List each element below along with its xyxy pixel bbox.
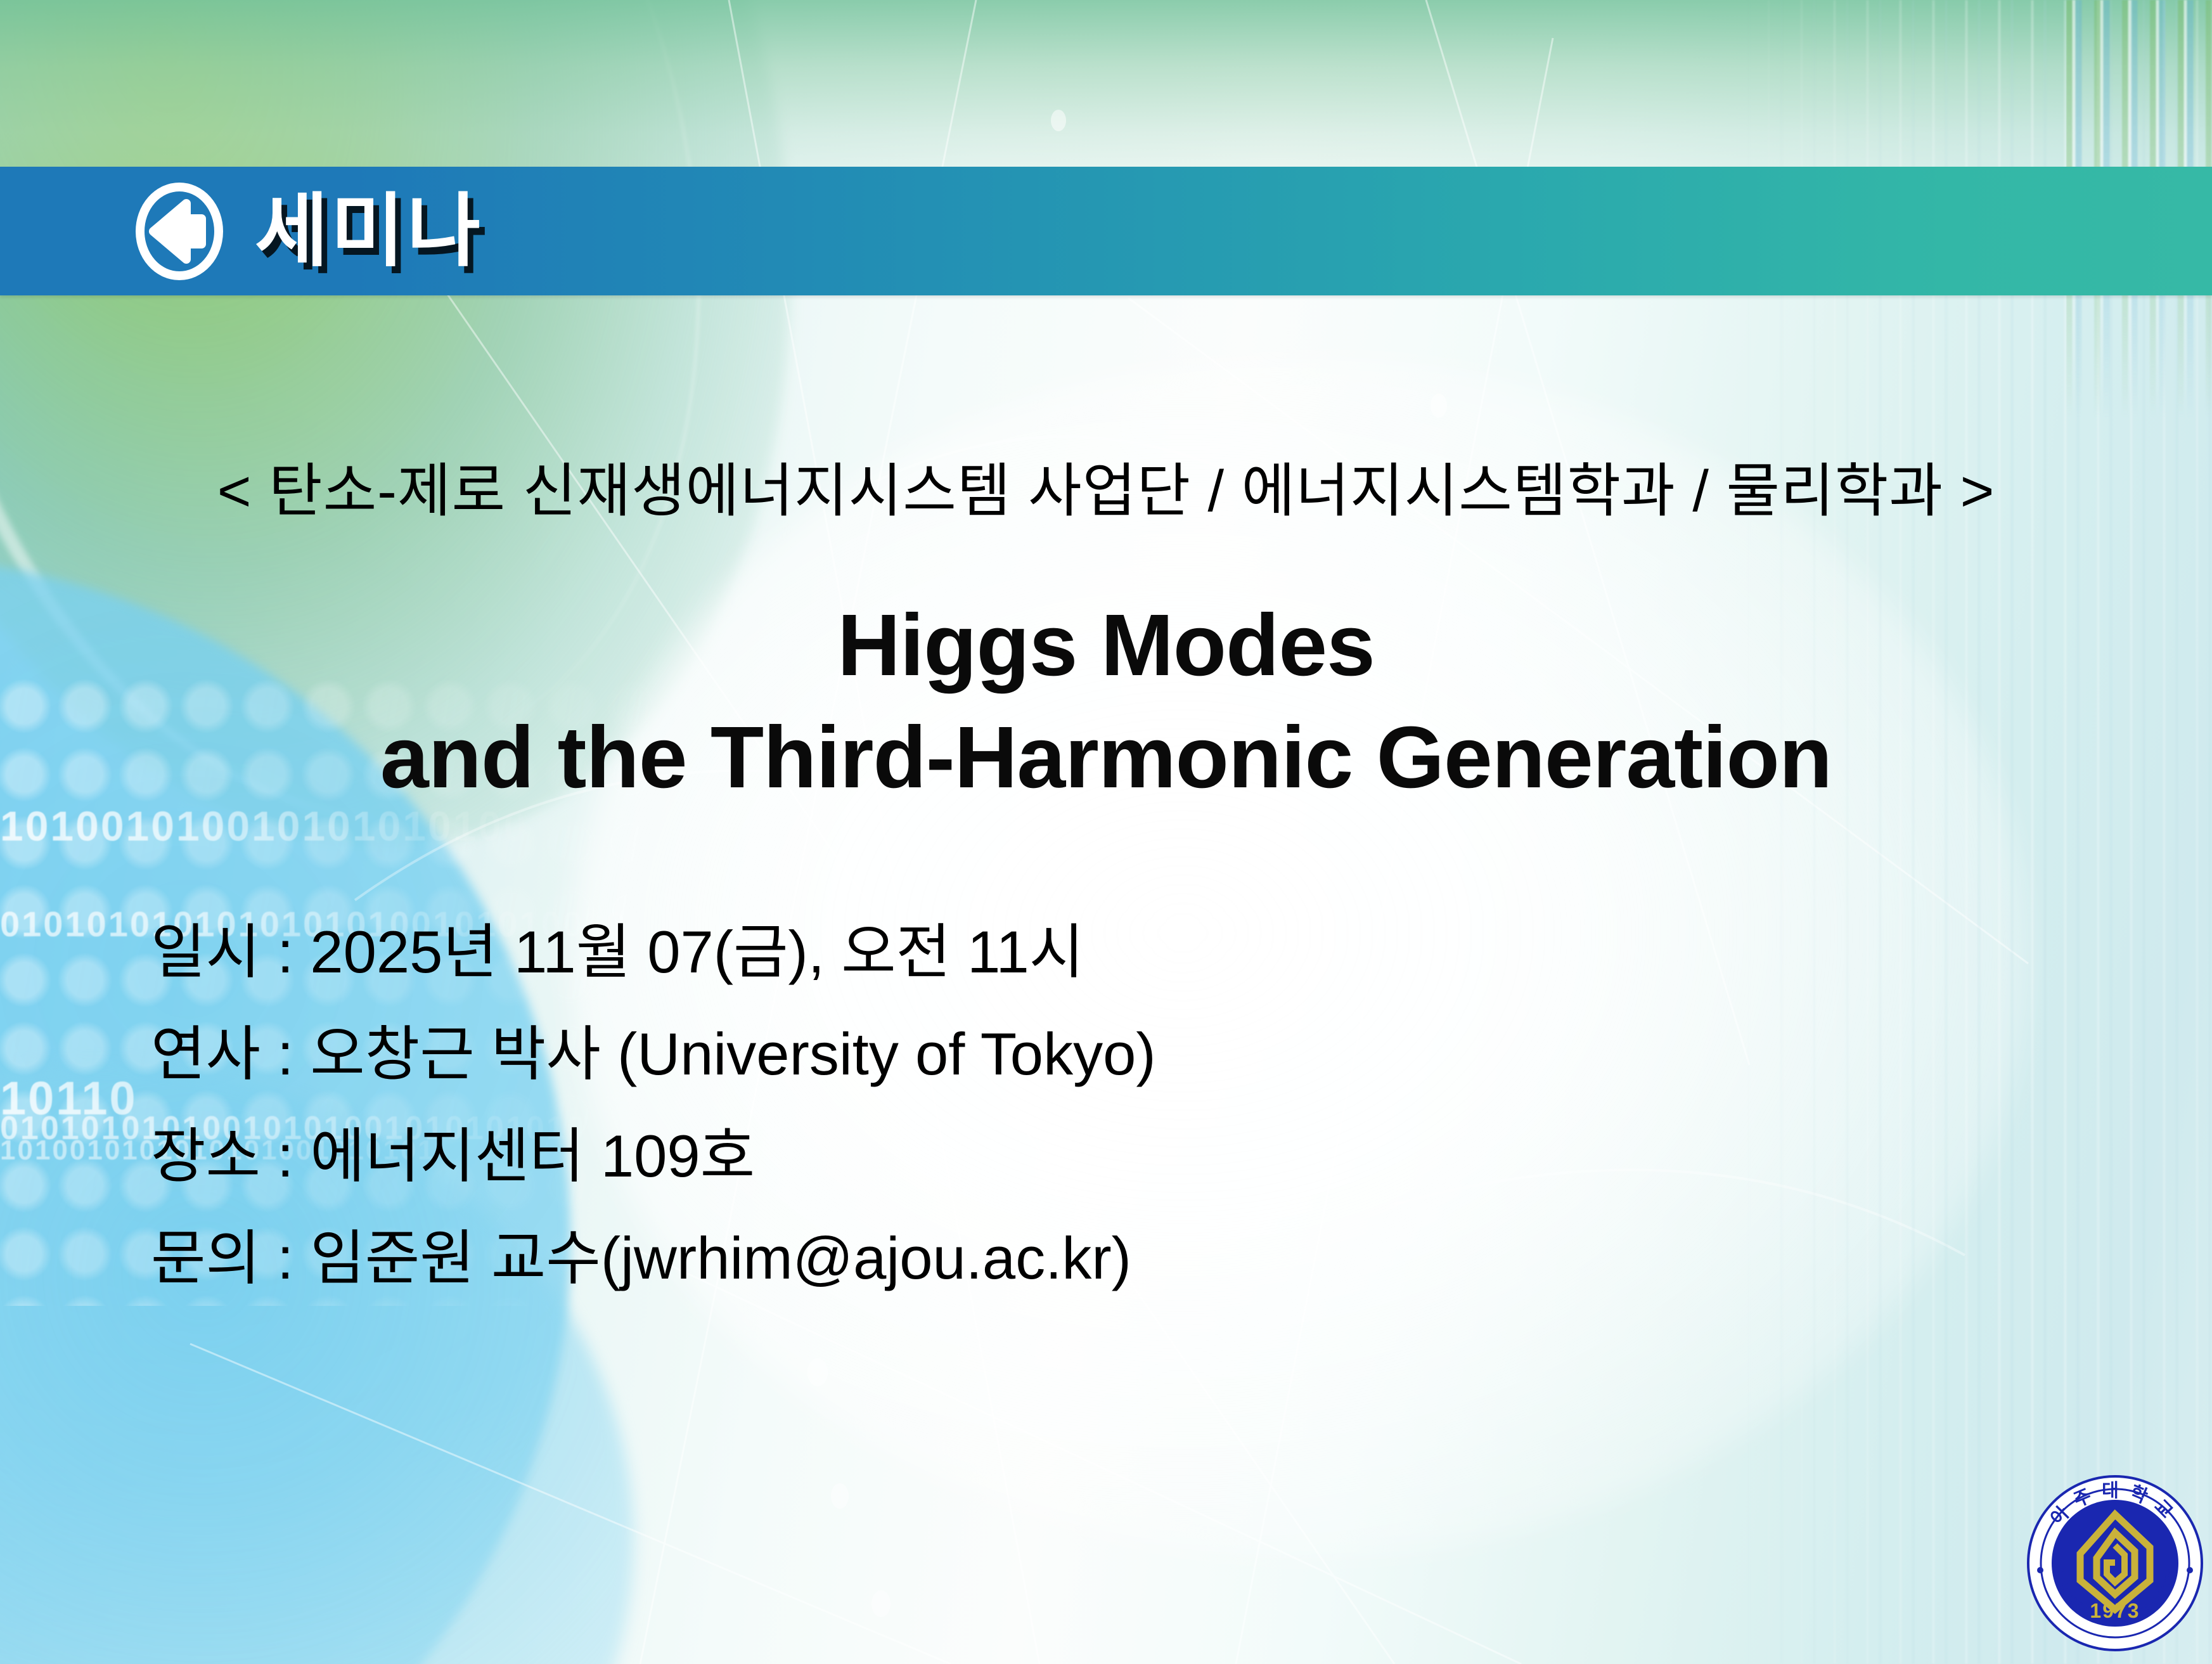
banner-title: 세미나 — [255, 191, 483, 271]
ajou-university-logo: 아주대학교 AJOU UNIVERSITY 1973 — [2026, 1474, 2204, 1653]
logo-year: 1973 — [2090, 1599, 2140, 1622]
seminar-poster: 101001010010101010100101 010101010101010… — [0, 0, 2212, 1664]
main-title-line-2: and the Third-Harmonic Generation — [0, 702, 2212, 814]
main-title-line-1: Higgs Modes — [0, 590, 2212, 702]
organizer-subtitle: < 탄소-제로 신재생에너지시스템 사업단 / 에너지시스템학과 / 물리학과 … — [0, 444, 2212, 528]
seminar-banner: 세미나 — [0, 167, 2212, 295]
detail-speaker: 연사 : 오창근 박사 (University of Tokyo) — [151, 1024, 1862, 1084]
detail-location: 장소 : 에너지센터 109호 — [151, 1126, 1862, 1186]
seminar-details: 일시 : 2025년 11월 07(금), 오전 11시 연사 : 오창근 박사… — [151, 922, 1862, 1331]
detail-contact: 문의 : 임준원 교수(jwrhim@ajou.ac.kr) — [151, 1229, 1862, 1288]
seminar-main-title: Higgs Modes and the Third-Harmonic Gener… — [0, 590, 2212, 813]
detail-datetime: 일시 : 2025년 11월 07(금), 오전 11시 — [151, 922, 1862, 982]
back-arrow-circle-icon[interactable] — [132, 181, 227, 282]
